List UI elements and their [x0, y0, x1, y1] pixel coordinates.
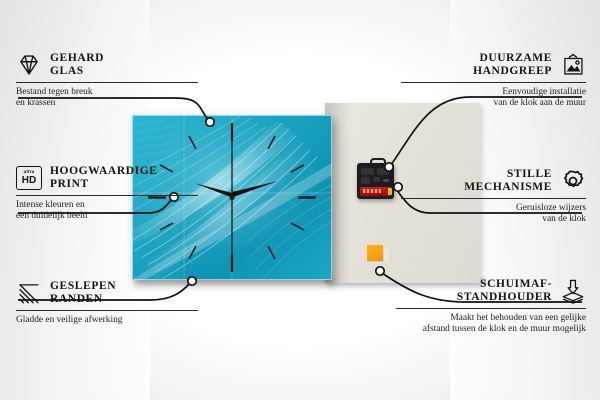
hand-hub: [229, 195, 234, 200]
feature-title: GEHARD GLAS: [50, 52, 104, 78]
aa-battery: [360, 187, 391, 196]
feature-desc-line: een duidelijk beeld: [16, 211, 198, 222]
mechanism-detail: [383, 179, 389, 182]
ultra-hd-icon: ultra HD: [16, 166, 42, 190]
feature-divider: [401, 82, 586, 83]
feature-duurzame-handgreep: DUURZAME HANDGREEP Eenvoudige installati…: [401, 52, 586, 110]
infographic-canvas: GEHARD GLAS Bestand tegen breuk en krass…: [0, 0, 600, 400]
feature-desc-line: Bestand tegen breuk: [16, 87, 198, 98]
mechanism-detail: [361, 168, 374, 175]
clock-mechanism: [357, 163, 394, 199]
battery-label: [363, 189, 381, 193]
feature-heading: GESLEPEN RANDEN: [16, 280, 198, 306]
foam-spacer-side: [383, 248, 389, 262]
feature-heading: GEHARD GLAS: [16, 52, 198, 78]
feature-desc-line: Intense kleuren en: [16, 200, 198, 211]
feature-desc-line: van de klok: [401, 214, 586, 225]
feature-divider: [16, 310, 198, 311]
hd-main-label: HD: [22, 176, 36, 186]
feature-divider: [401, 198, 586, 199]
feature-title: STILLE MECHANISME: [464, 168, 552, 194]
mechanism-detail: [361, 177, 370, 184]
feature-gehard-glas: GEHARD GLAS Bestand tegen breuk en krass…: [16, 52, 198, 110]
beveled-edge-icon: [16, 280, 42, 306]
feature-title: GESLEPEN RANDEN: [50, 280, 116, 306]
feature-desc-line: Eenvoudige installatie: [401, 87, 586, 98]
feature-divider: [396, 308, 586, 309]
feature-divider: [16, 82, 198, 83]
feature-desc-line: en krassen: [16, 98, 198, 109]
framed-picture-hook-icon: [560, 52, 586, 78]
minute-hand: [232, 181, 278, 198]
feature-title: DUURZAME HANDGREEP: [473, 52, 552, 78]
gear-icon: [560, 168, 586, 194]
mechanism-hanger: [370, 158, 386, 168]
battery-terminal: [388, 188, 392, 195]
feature-desc-line: Maakt het behouden van een gelijke: [396, 313, 586, 324]
feature-desc-line: Gladde en veilige afwerking: [16, 315, 198, 326]
feature-heading: STILLE MECHANISME: [401, 168, 586, 194]
mechanism-detail: [377, 168, 389, 175]
hour-hand: [194, 183, 232, 198]
feature-geslepen-randen: GESLEPEN RANDEN Gladde en veilige afwerk…: [16, 280, 198, 326]
feature-heading: DUURZAME HANDGREEP: [401, 52, 586, 78]
feature-desc-line: Geruisloze wijzers: [401, 203, 586, 214]
feature-title: HOOGWAARDIGE PRINT: [50, 165, 158, 191]
feature-heading: ultra HD HOOGWAARDIGE PRINT: [16, 165, 198, 191]
clock-hands: [194, 141, 278, 260]
feature-stille-mechanisme: STILLE MECHANISME Geruisloze wijzers van…: [401, 168, 586, 226]
feature-title: SCHUIMAF- STANDHOUDER: [457, 278, 552, 304]
feature-desc-line: afstand tussen de klok en de muur mogeli…: [396, 324, 586, 335]
feature-divider: [16, 195, 198, 196]
feature-hoogwaardige-print: ultra HD HOOGWAARDIGE PRINT Intense kleu…: [16, 165, 198, 223]
feature-heading: SCHUIMAF- STANDHOUDER: [396, 278, 586, 304]
foam-spacer: [367, 245, 383, 261]
feature-desc-line: van de klok aan de muur: [401, 98, 586, 109]
spacer-arrow-icon: [560, 278, 586, 304]
diamond-icon: [16, 52, 42, 78]
mechanism-detail: [373, 177, 380, 182]
feature-schuimafstandhouder: SCHUIMAF- STANDHOUDER Maakt het behouden…: [396, 278, 586, 336]
